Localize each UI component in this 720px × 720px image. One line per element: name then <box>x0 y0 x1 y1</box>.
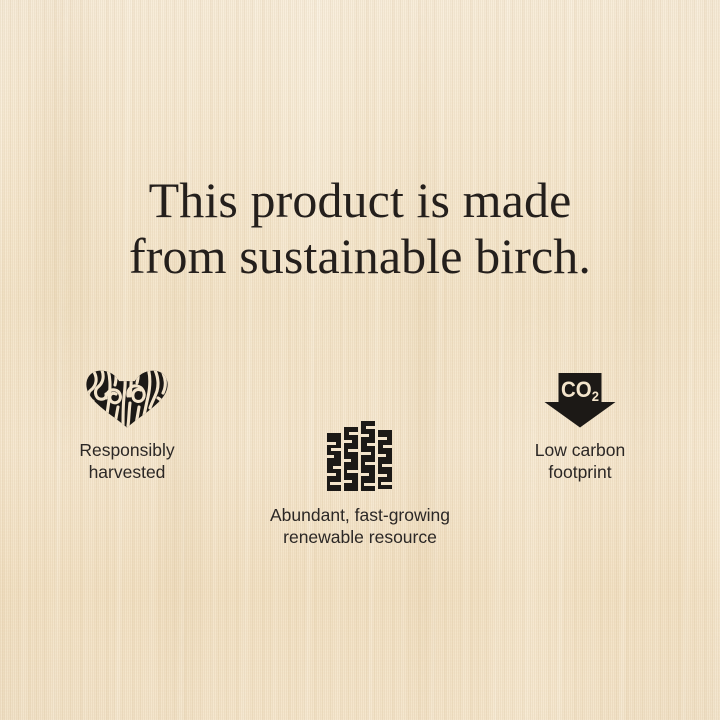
birch-logs-bars-icon <box>327 421 393 493</box>
sustainable-birch-poster: This product is made from sustainable bi… <box>0 0 720 720</box>
icon-container: CO2 <box>476 366 684 428</box>
feature-caption: Low carbon footprint <box>476 439 684 484</box>
feature-low-carbon-footprint: CO2 Low carbon footprint <box>476 366 684 484</box>
wood-grain-heart-icon <box>85 370 169 428</box>
feature-caption: Abundant, fast-growing renewable resourc… <box>256 504 464 549</box>
feature-caption: Responsibly harvested <box>23 439 231 484</box>
co2-down-arrow-icon: CO2 <box>544 373 616 428</box>
poster-headline: This product is made from sustainable bi… <box>0 172 720 284</box>
icon-container <box>23 366 231 428</box>
poster-content: This product is made from sustainable bi… <box>0 0 720 720</box>
feature-responsibly-harvested: Responsibly harvested <box>23 366 231 484</box>
feature-renewable-resource: Abundant, fast-growing renewable resourc… <box>256 417 464 549</box>
icon-container <box>256 417 464 493</box>
